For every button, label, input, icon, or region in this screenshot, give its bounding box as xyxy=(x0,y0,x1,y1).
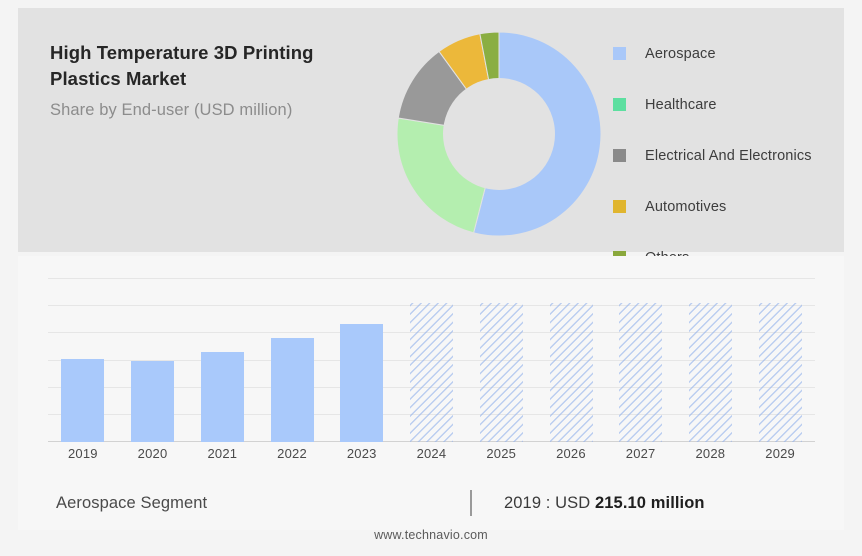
bar-2021[interactable] xyxy=(201,352,244,442)
legend-label-healthcare: Healthcare xyxy=(645,97,717,113)
infographic-root: High Temperature 3D Printing Plastics Ma… xyxy=(0,0,862,556)
legend: Aerospace Healthcare Electrical And Elec… xyxy=(613,28,861,283)
footer-value: 2019 : USD 215.10 million xyxy=(504,494,705,513)
bar-2022[interactable] xyxy=(271,338,314,442)
legend-swatch-electrical xyxy=(613,149,626,162)
x-tick-2028: 2028 xyxy=(676,446,746,461)
page-subtitle: Share by End-user (USD million) xyxy=(50,101,400,120)
legend-item-automotives[interactable]: Automotives xyxy=(613,181,861,232)
bar-2029[interactable] xyxy=(759,303,802,442)
title-block: High Temperature 3D Printing Plastics Ma… xyxy=(50,40,400,120)
x-tick-2022: 2022 xyxy=(257,446,327,461)
top-panel: High Temperature 3D Printing Plastics Ma… xyxy=(18,8,844,252)
bar-2023[interactable] xyxy=(340,324,383,442)
x-tick-2021: 2021 xyxy=(188,446,258,461)
x-tick-2026: 2026 xyxy=(536,446,606,461)
page-title-line-2: Plastics Market xyxy=(50,66,400,92)
legend-label-electrical: Electrical And Electronics xyxy=(645,148,812,164)
x-tick-2023: 2023 xyxy=(327,446,397,461)
donut-chart-svg xyxy=(391,26,607,242)
footer: Aerospace Segment 2019 : USD 215.10 mill… xyxy=(18,482,844,530)
bar-2024[interactable] xyxy=(410,303,453,442)
bar-2026[interactable] xyxy=(550,303,593,442)
legend-item-healthcare[interactable]: Healthcare xyxy=(613,79,861,130)
bar-2027[interactable] xyxy=(619,303,662,442)
x-tick-2029: 2029 xyxy=(745,446,815,461)
bar-2028[interactable] xyxy=(689,303,732,442)
legend-item-electrical[interactable]: Electrical And Electronics xyxy=(613,130,861,181)
footer-divider xyxy=(470,490,472,516)
legend-swatch-automotives xyxy=(613,200,626,213)
watermark: www.technavio.com xyxy=(0,528,862,542)
bar-2019[interactable] xyxy=(61,359,104,442)
footer-value-amount: 215.10 million xyxy=(595,494,705,512)
legend-swatch-aerospace xyxy=(613,47,626,60)
footer-value-prefix: 2019 : USD xyxy=(504,494,590,512)
donut-center-hole xyxy=(443,78,555,190)
x-tick-2020: 2020 xyxy=(118,446,188,461)
x-tick-2024: 2024 xyxy=(397,446,467,461)
footer-segment-label: Aerospace Segment xyxy=(56,494,207,513)
legend-swatch-healthcare xyxy=(613,98,626,111)
legend-item-aerospace[interactable]: Aerospace xyxy=(613,28,861,79)
x-tick-2027: 2027 xyxy=(606,446,676,461)
bar-series xyxy=(48,278,815,442)
donut-chart xyxy=(391,26,607,242)
x-tick-2019: 2019 xyxy=(48,446,118,461)
bar-chart-panel: 2019202020212022202320242025202620272028… xyxy=(18,256,844,482)
x-axis-tick-labels: 2019202020212022202320242025202620272028… xyxy=(48,446,815,472)
legend-label-automotives: Automotives xyxy=(645,199,726,215)
x-tick-2025: 2025 xyxy=(466,446,536,461)
page-title-line-1: High Temperature 3D Printing xyxy=(50,40,400,66)
legend-label-aerospace: Aerospace xyxy=(645,46,716,62)
bar-chart-plot-area xyxy=(48,278,815,442)
bar-2025[interactable] xyxy=(480,303,523,442)
bar-2020[interactable] xyxy=(131,361,174,442)
